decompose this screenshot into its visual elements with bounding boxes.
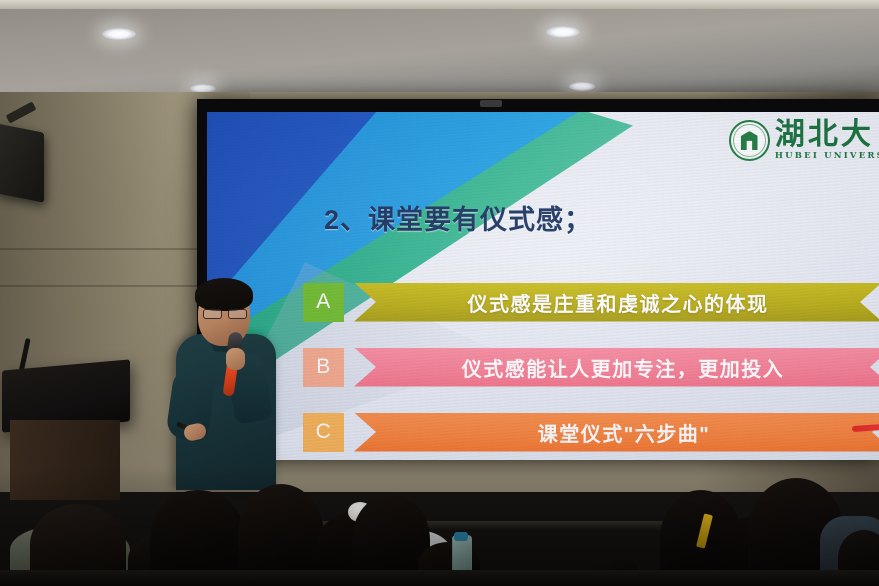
presenter-hair	[195, 278, 253, 311]
downlight-4	[569, 82, 595, 91]
badge-a: A	[303, 283, 344, 322]
lectern-body	[10, 420, 120, 500]
presenter-hand-holding-mic	[226, 348, 245, 370]
logo-chinese-name: 湖北大	[775, 120, 874, 150]
ceiling	[0, 0, 879, 98]
presenter	[168, 276, 288, 490]
slide-row-c: C 课堂仪式"六步曲"	[303, 412, 879, 452]
downlight-2	[546, 26, 580, 38]
ribbon-a: 仪式感是庄重和虔诚之心的体现	[354, 283, 879, 322]
university-seal-icon	[729, 120, 770, 161]
logo-text-block: 湖北大 HUBEI UNIVERS	[775, 120, 879, 161]
wall-speaker-icon	[0, 123, 44, 202]
ribbon-c-text: 课堂仪式"六步曲"	[538, 418, 710, 447]
glasses-icon	[203, 309, 247, 317]
slide-row-a: A 仪式感是庄重和虔诚之心的体现	[303, 282, 879, 322]
badge-c: C	[303, 413, 344, 452]
badge-b: B	[303, 348, 344, 387]
ribbon-c: 课堂仪式"六步曲"	[354, 413, 879, 452]
slide-title: 2、课堂要有仪式感；	[324, 198, 592, 237]
slide-row-b: B 仪式感能让人更加专注，更加投入	[303, 347, 879, 387]
ribbon-b-text: 仪式感能让人更加专注，更加投入	[462, 353, 785, 382]
ribbon-b: 仪式感能让人更加专注，更加投入	[354, 348, 879, 387]
ribbon-a-text: 仪式感是庄重和虔诚之心的体现	[468, 288, 769, 317]
ceiling-edge	[0, 0, 879, 9]
lecture-hall-photo: 湖北大 HUBEI UNIVERS 2、课堂要有仪式感； A 仪式感是庄重和虔诚…	[0, 0, 879, 586]
water-bottle-cap	[454, 532, 468, 541]
hubei-university-logo: 湖北大 HUBEI UNIVERS	[729, 120, 879, 161]
logo-english-name: HUBEI UNIVERS	[775, 152, 879, 161]
front-desk-bar	[0, 570, 879, 586]
seal-ring	[733, 124, 766, 157]
slide-screen: 湖北大 HUBEI UNIVERS 2、课堂要有仪式感； A 仪式感是庄重和虔诚…	[207, 112, 879, 460]
screen-sensor	[480, 100, 502, 107]
downlight-1	[102, 28, 136, 40]
